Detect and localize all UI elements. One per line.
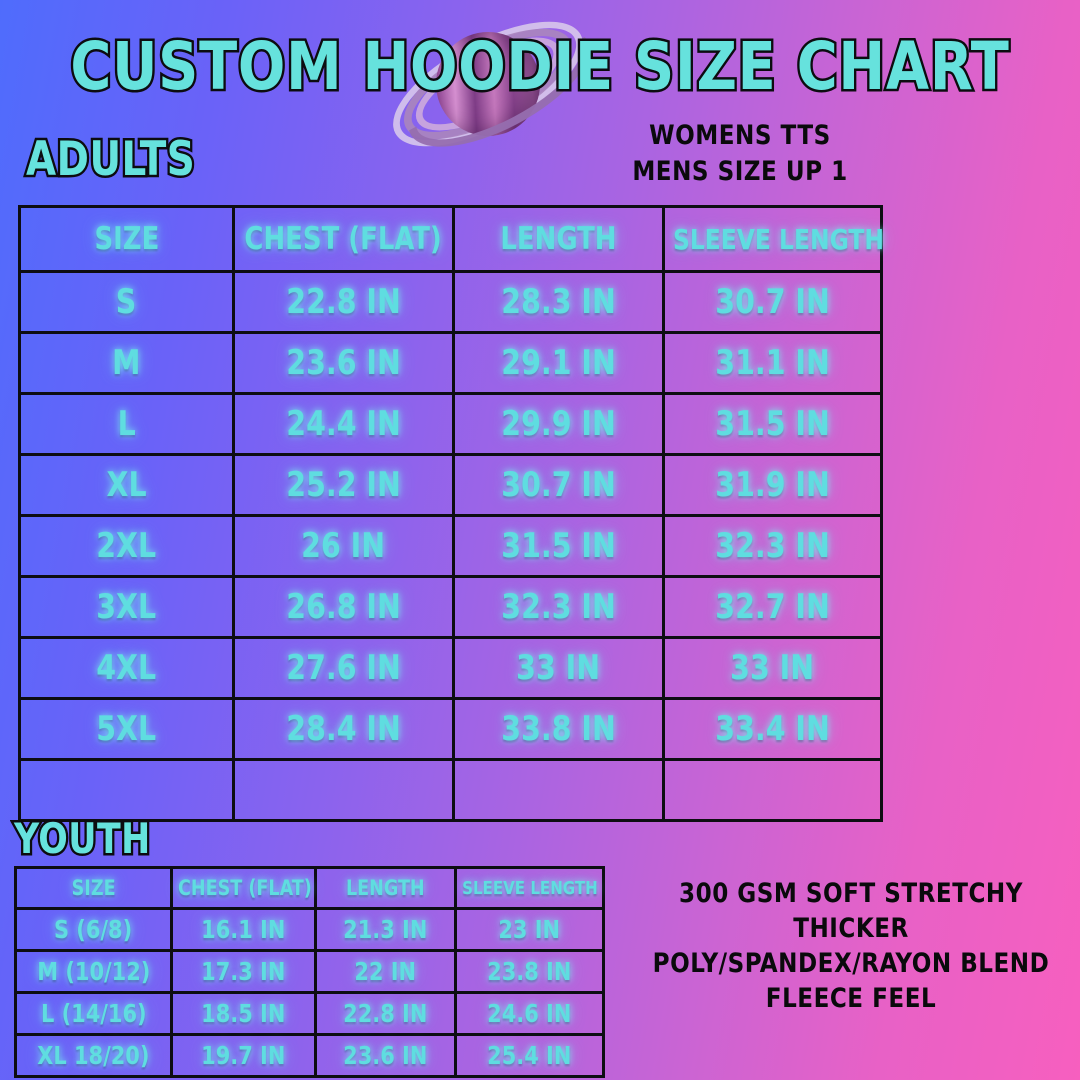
cell-size: XL 18/20) [16,1035,172,1077]
cell-size: S (6/8) [16,909,172,951]
cell-sleeve: 23 IN [456,909,604,951]
cell-size: L (14/16) [16,993,172,1035]
adults-section-label: ADULTS [26,136,195,183]
size-chart-poster: CUSTOM HOODIE SIZE CHART ADULTS WOMENS T… [0,0,1080,1080]
cell-sleeve: 32.3 IN [664,516,882,577]
page-title: CUSTOM HOODIE SIZE CHART [32,34,1047,100]
cell-chest: 19.7 IN [172,1035,316,1077]
adults-size-table: SIZE CHEST (FLAT) LENGTH SLEEVE LENGTH S… [18,205,883,822]
column-header-length: LENGTH [454,207,664,272]
cell-size: S [20,272,234,333]
cell-sleeve: 31.1 IN [664,333,882,394]
cell-length: 22.8 IN [316,993,456,1035]
cell-sleeve: 32.7 IN [664,577,882,638]
column-header-chest: CHEST (FLAT) [234,207,454,272]
cell-sleeve [664,760,882,821]
fabric-note-line-2: THICKER [641,911,1061,946]
cell-chest: 25.2 IN [234,455,454,516]
cell-length [454,760,664,821]
cell-length: 22 IN [316,951,456,993]
table-row: 3XL 26.8 IN 32.3 IN 32.7 IN [20,577,882,638]
cell-chest: 26.8 IN [234,577,454,638]
cell-length: 30.7 IN [454,455,664,516]
table-row-empty [20,760,882,821]
cell-length: 33.8 IN [454,699,664,760]
cell-sleeve: 25.4 IN [456,1035,604,1077]
cell-size: 5XL [20,699,234,760]
cell-length: 21.3 IN [316,909,456,951]
cell-sleeve: 30.7 IN [664,272,882,333]
cell-chest [234,760,454,821]
column-header-size: SIZE [16,868,172,909]
cell-chest: 27.6 IN [234,638,454,699]
cell-size [20,760,234,821]
cell-length: 32.3 IN [454,577,664,638]
table-row: L 24.4 IN 29.9 IN 31.5 IN [20,394,882,455]
column-header-sleeve: SLEEVE LENGTH [456,868,604,909]
column-header-sleeve: SLEEVE LENGTH [664,207,882,272]
column-header-size: SIZE [20,207,234,272]
table-row: S (6/8) 16.1 IN 21.3 IN 23 IN [16,909,604,951]
table-header-row: SIZE CHEST (FLAT) LENGTH SLEEVE LENGTH [16,868,604,909]
cell-chest: 22.8 IN [234,272,454,333]
table-row: XL 18/20) 19.7 IN 23.6 IN 25.4 IN [16,1035,604,1077]
table-row: L (14/16) 18.5 IN 22.8 IN 24.6 IN [16,993,604,1035]
cell-chest: 18.5 IN [172,993,316,1035]
column-header-length: LENGTH [316,868,456,909]
cell-size: L [20,394,234,455]
cell-length: 29.1 IN [454,333,664,394]
cell-chest: 16.1 IN [172,909,316,951]
cell-size: M [20,333,234,394]
cell-sleeve: 24.6 IN [456,993,604,1035]
cell-sleeve: 33 IN [664,638,882,699]
cell-chest: 17.3 IN [172,951,316,993]
cell-size: XL [20,455,234,516]
fit-note: WOMENS TTS MENS SIZE UP 1 [520,118,960,190]
cell-sleeve: 23.8 IN [456,951,604,993]
cell-sleeve: 31.9 IN [664,455,882,516]
cell-size: 2XL [20,516,234,577]
fabric-note-line-3: POLY/SPANDEX/RAYON BLEND [641,946,1061,981]
cell-length: 33 IN [454,638,664,699]
cell-size: 3XL [20,577,234,638]
table-row: 2XL 26 IN 31.5 IN 32.3 IN [20,516,882,577]
fabric-note: 300 GSM SOFT STRETCHY THICKER POLY/SPAND… [630,876,1072,1016]
cell-size: 4XL [20,638,234,699]
cell-sleeve: 31.5 IN [664,394,882,455]
cell-length: 23.6 IN [316,1035,456,1077]
column-header-chest: CHEST (FLAT) [172,868,316,909]
cell-chest: 26 IN [234,516,454,577]
fabric-note-line-1: 300 GSM SOFT STRETCHY [641,876,1061,911]
cell-size: M (10/12) [16,951,172,993]
table-row: 4XL 27.6 IN 33 IN 33 IN [20,638,882,699]
youth-size-table: SIZE CHEST (FLAT) LENGTH SLEEVE LENGTH S… [14,866,605,1078]
cell-length: 31.5 IN [454,516,664,577]
fabric-note-line-4: FLEECE FEEL [641,981,1061,1016]
cell-chest: 23.6 IN [234,333,454,394]
fit-note-line-1: WOMENS TTS [531,118,949,154]
table-row: M (10/12) 17.3 IN 22 IN 23.8 IN [16,951,604,993]
cell-sleeve: 33.4 IN [664,699,882,760]
cell-chest: 24.4 IN [234,394,454,455]
fit-note-line-2: MENS SIZE UP 1 [531,154,949,190]
cell-chest: 28.4 IN [234,699,454,760]
table-row: 5XL 28.4 IN 33.8 IN 33.4 IN [20,699,882,760]
table-header-row: SIZE CHEST (FLAT) LENGTH SLEEVE LENGTH [20,207,882,272]
table-row: M 23.6 IN 29.1 IN 31.1 IN [20,333,882,394]
cell-length: 29.9 IN [454,394,664,455]
table-row: XL 25.2 IN 30.7 IN 31.9 IN [20,455,882,516]
cell-length: 28.3 IN [454,272,664,333]
table-row: S 22.8 IN 28.3 IN 30.7 IN [20,272,882,333]
youth-section-label: YOUTH [14,818,151,860]
